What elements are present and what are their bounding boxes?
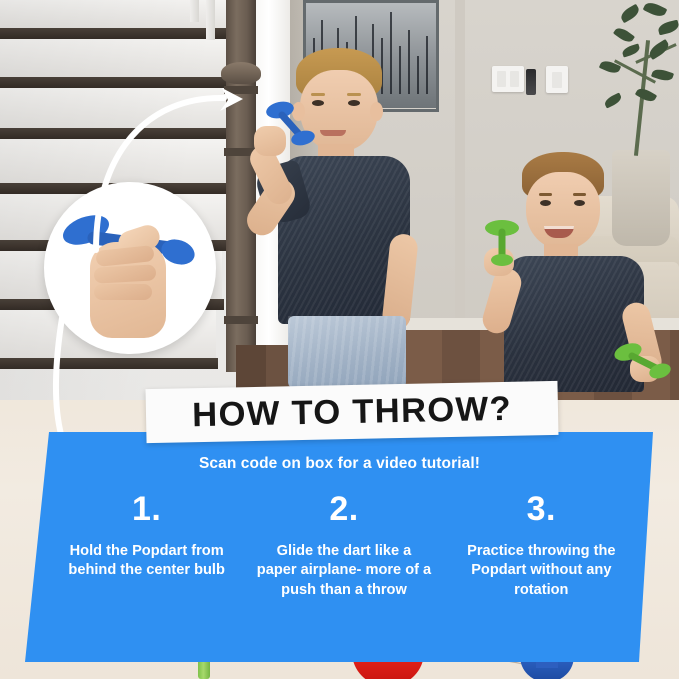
step-1: 1. Hold the Popdart from behind the cent… [48, 492, 245, 652]
step-1-number: 1. [48, 492, 245, 526]
step-3-text: Practice throwing the Popdart without an… [443, 542, 640, 600]
steps-row: 1. Hold the Popdart from behind the cent… [48, 492, 640, 652]
boy-right [470, 152, 679, 392]
light-switch-plate-right [546, 66, 568, 93]
boy-left [236, 48, 426, 388]
step-3-number: 3. [443, 492, 640, 526]
infographic-canvas: HOW TO THROW? Scan code on box for a vid… [0, 0, 679, 679]
page-title: HOW TO THROW? [141, 381, 562, 443]
closeup-inset-grip [44, 182, 216, 354]
step-2-number: 2. [245, 492, 442, 526]
thermostat-control [526, 69, 536, 95]
green-popdart-upper [472, 212, 532, 272]
step-1-text: Hold the Popdart from behind the center … [48, 542, 245, 581]
title-banner: HOW TO THROW? [145, 381, 558, 443]
scan-code-subtitle: Scan code on box for a video tutorial! [0, 455, 679, 473]
green-popdart-lower [610, 338, 674, 384]
step-3: 3. Practice throwing the Popdart without… [443, 492, 640, 652]
blue-popdart-held [258, 100, 322, 148]
light-switch-plate-left [492, 66, 524, 92]
step-2: 2. Glide the dart like a paper airplane-… [245, 492, 442, 652]
door-frame [455, 0, 465, 330]
step-2-text: Glide the dart like a paper airplane- mo… [245, 542, 442, 600]
